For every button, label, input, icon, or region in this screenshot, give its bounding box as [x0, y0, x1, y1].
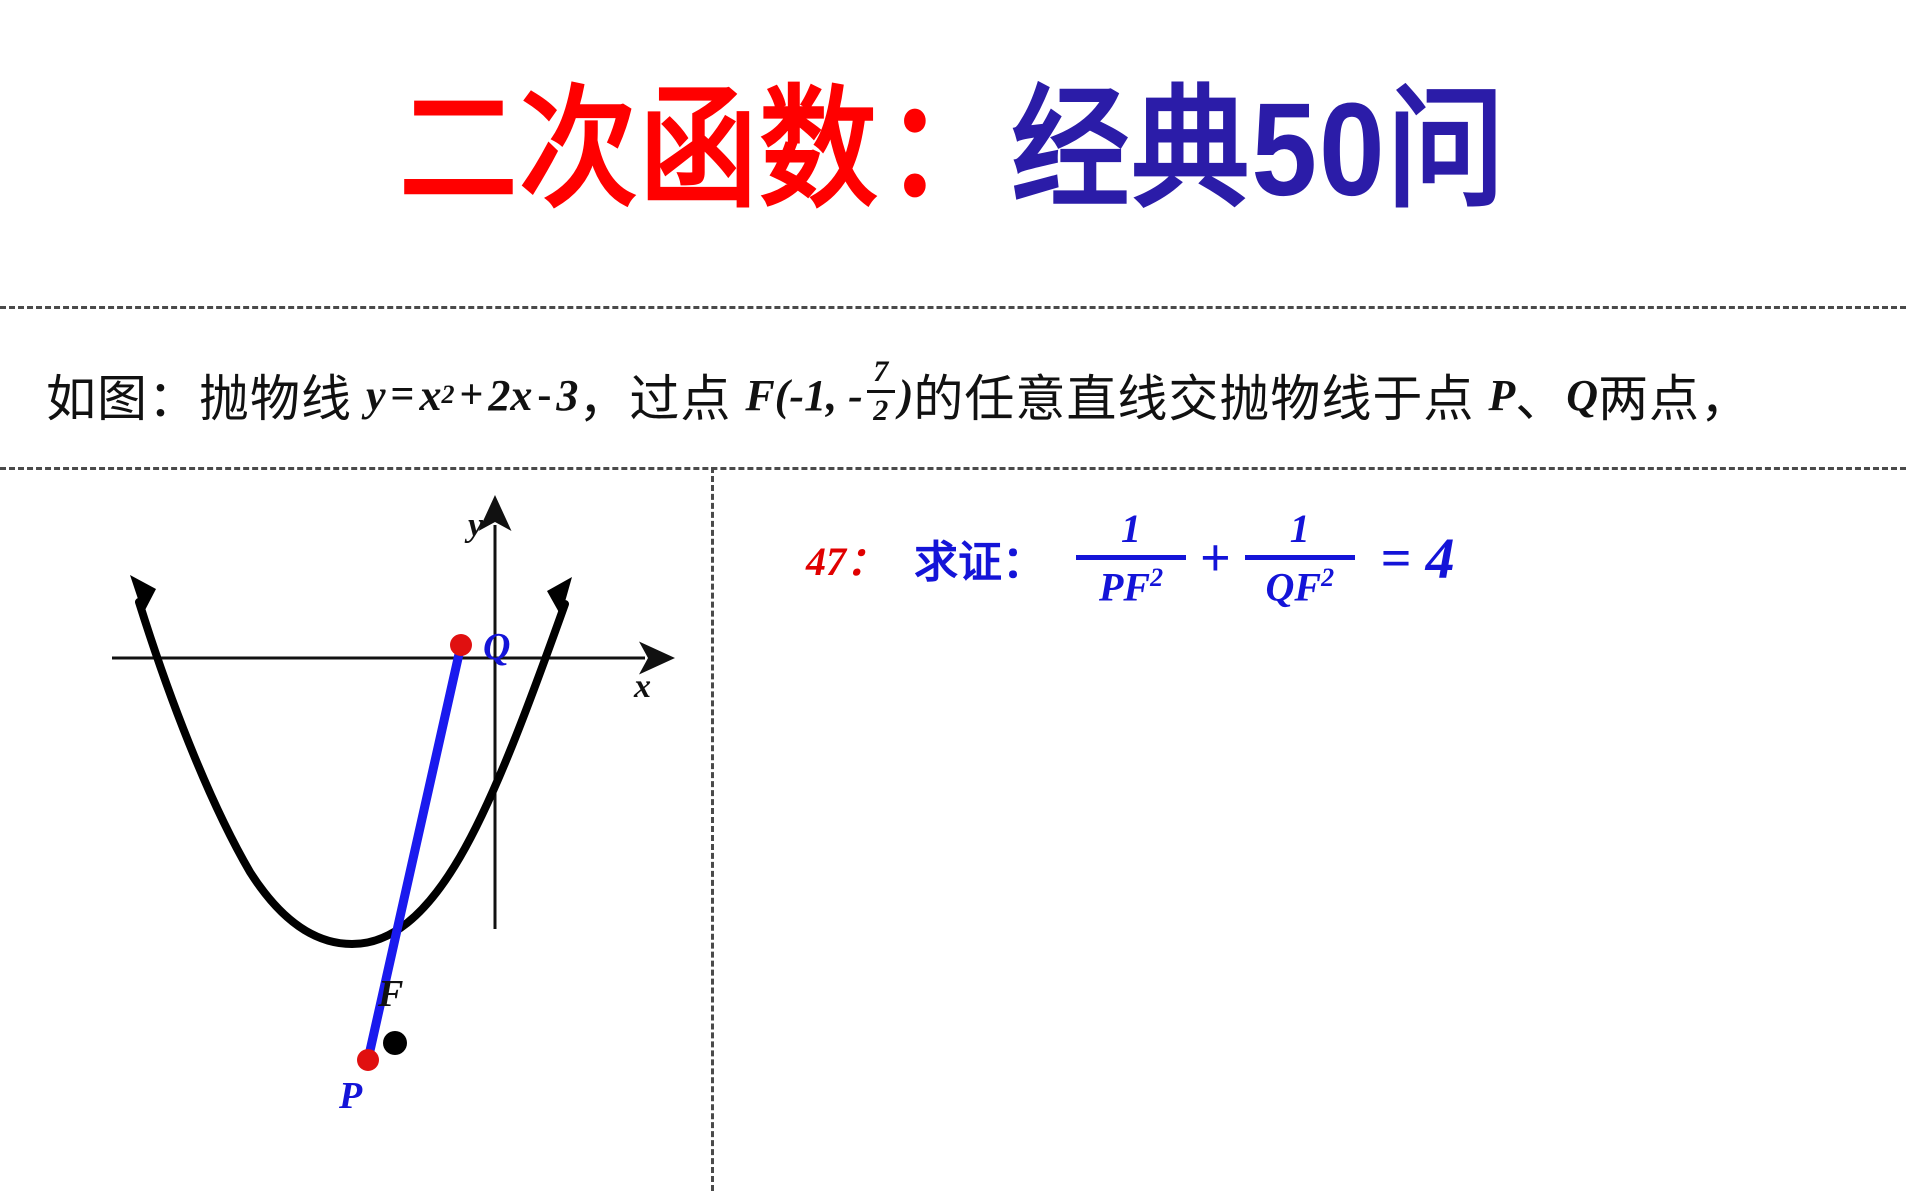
problem-through: 过点 [629, 359, 731, 431]
eq-plus: + [454, 371, 488, 419]
graph-panel: y x Q F P [0, 467, 711, 1191]
fraction-seven-halves: 7 2 [867, 356, 895, 426]
fraction-one-over-PF-squared: 1 PF2 [1076, 507, 1186, 609]
title-colon: ： [879, 76, 1011, 224]
parabola-arrow-right [547, 577, 572, 616]
fraction-one-over-QF-squared: 1 QF2 [1245, 507, 1355, 609]
point-P-label: P [339, 1074, 362, 1118]
frac2-den-text: QF [1265, 564, 1321, 609]
question-row: 47： 求证： 1 PF2 + 1 QF2 = 4 [806, 507, 1455, 609]
problem-comma: ， [578, 359, 629, 431]
paren-close: ) [899, 370, 914, 421]
eq-x-exponent: 2 [441, 380, 454, 410]
formula-plus: + [1200, 527, 1231, 589]
eq-minus: - [532, 371, 556, 419]
point-P-symbol: P [1488, 370, 1515, 421]
eq-equals: = [386, 371, 420, 419]
point-P-dot [357, 1049, 379, 1071]
point-Q-label: Q [483, 625, 510, 669]
frac1-denominator: PF2 [1099, 564, 1163, 609]
frac1-den-text: PF [1099, 564, 1150, 609]
eq-y: y [366, 370, 386, 421]
point-F-symbol: F [745, 370, 774, 421]
problem-lead: 如图：抛物线 [46, 359, 352, 431]
eq-3: 3 [556, 370, 578, 421]
point-F-dot [383, 1031, 407, 1055]
frac1-numerator: 1 [1121, 507, 1141, 551]
point-Q-symbol: Q [1566, 370, 1598, 421]
frac2-bar [1245, 555, 1355, 560]
page-title: 二次函数：经典50问 [399, 84, 1506, 216]
frac1-den-exponent: 2 [1150, 563, 1163, 592]
fraction-bar [867, 390, 895, 393]
problem-statement: 如图：抛物线 y = x2 + 2x - 3 ， 过点 F (-1, - 7 2… [46, 340, 1886, 450]
formula-result: 4 [1426, 525, 1455, 592]
parabola-arrow-left [130, 575, 156, 614]
frac2-numerator: 1 [1290, 507, 1310, 551]
problem-tail2: 两点， [1598, 359, 1751, 431]
point-F-label: F [378, 972, 403, 1016]
y-axis-label: y [468, 507, 483, 545]
paren-open: (-1, - [775, 370, 863, 421]
frac2-den-exponent: 2 [1321, 563, 1334, 592]
frac1-bar [1076, 555, 1186, 560]
frac2-denominator: QF2 [1265, 564, 1334, 609]
problem-dunhao: 、 [1515, 359, 1566, 431]
eq-x: x [419, 370, 441, 421]
x-axis-label: x [634, 668, 651, 706]
formula-equals: = [1381, 527, 1412, 589]
page-title-bar: 二次函数：经典50问 [0, 0, 1906, 300]
problem-tail: 的任意直线交抛物线于点 [913, 359, 1474, 431]
question-panel: 47： 求证： 1 PF2 + 1 QF2 = 4 [711, 467, 1906, 1191]
divider-top [0, 306, 1906, 309]
title-red-part: 二次函数 [399, 76, 879, 224]
title-blue-part: 经典50问 [1011, 76, 1506, 224]
point-Q-dot [450, 634, 472, 656]
eq-2x: 2x [488, 370, 532, 421]
fraction-numerator: 7 [873, 356, 888, 388]
question-number: 47： [806, 529, 886, 587]
question-label: 求证： [914, 526, 1046, 590]
question-formula: 1 PF2 + 1 QF2 = 4 [1068, 507, 1455, 609]
fraction-denominator: 2 [873, 395, 888, 427]
